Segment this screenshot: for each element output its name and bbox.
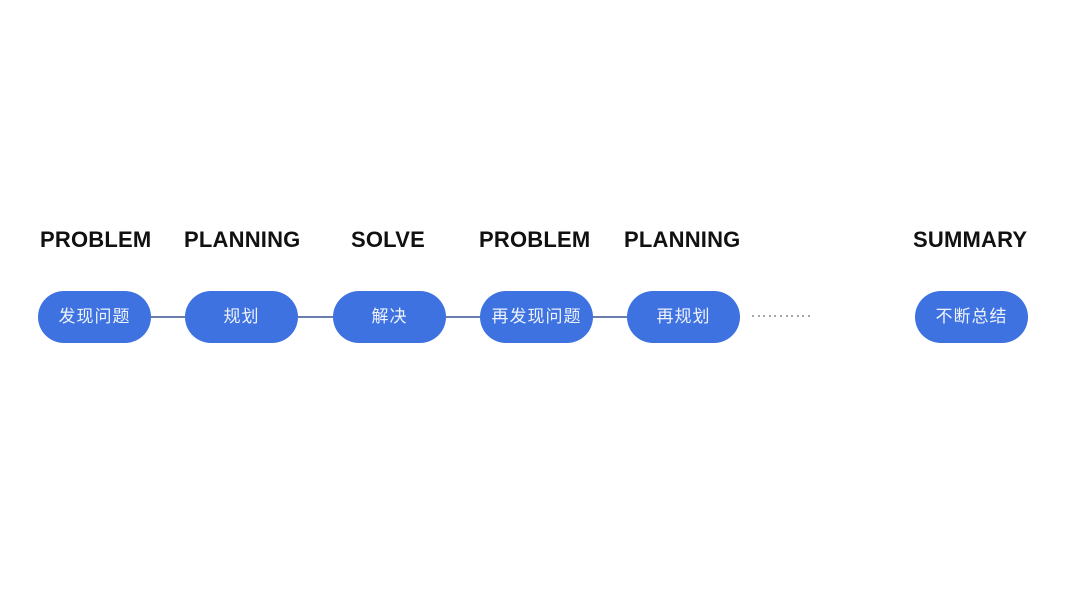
step-label-6: SUMMARY <box>913 226 1027 254</box>
step-pill-2[interactable]: 规划 <box>185 291 298 343</box>
step-pill-1[interactable]: 发现问题 <box>38 291 151 343</box>
step-pill-label-1: 发现问题 <box>59 307 131 327</box>
connector-1 <box>150 316 186 318</box>
connector-3 <box>445 316 481 318</box>
dot <box>752 315 754 317</box>
step-label-4: PROBLEM <box>479 226 590 254</box>
step-pill-label-2: 规划 <box>224 307 260 327</box>
dot <box>802 315 804 317</box>
dot <box>769 315 771 317</box>
connector-dotted-5 <box>752 313 810 319</box>
step-pill-label-4: 再发现问题 <box>492 307 582 327</box>
dot <box>786 315 788 317</box>
dot <box>774 315 776 317</box>
dot <box>763 315 765 317</box>
step-pill-5[interactable]: 再规划 <box>627 291 740 343</box>
step-label-5: PLANNING <box>624 226 741 254</box>
step-label-2: PLANNING <box>184 226 301 254</box>
dot <box>758 315 760 317</box>
diagram-canvas: PROBLEM 发现问题 PLANNING 规划 SOLVE 解决 PROBLE… <box>0 0 1080 608</box>
dot <box>780 315 782 317</box>
dot <box>797 315 799 317</box>
step-pill-label-3: 解决 <box>372 307 408 327</box>
connector-4 <box>592 316 628 318</box>
dot <box>808 315 810 317</box>
connector-2 <box>298 316 334 318</box>
step-pill-label-6: 不断总结 <box>936 307 1008 327</box>
process-timeline: PROBLEM 发现问题 PLANNING 规划 SOLVE 解决 PROBLE… <box>0 0 1080 608</box>
step-label-1: PROBLEM <box>40 226 151 254</box>
dot <box>791 315 793 317</box>
step-pill-4[interactable]: 再发现问题 <box>480 291 593 343</box>
step-pill-6[interactable]: 不断总结 <box>915 291 1028 343</box>
step-pill-3[interactable]: 解决 <box>333 291 446 343</box>
step-label-3: SOLVE <box>351 226 425 254</box>
step-pill-label-5: 再规划 <box>657 307 711 327</box>
